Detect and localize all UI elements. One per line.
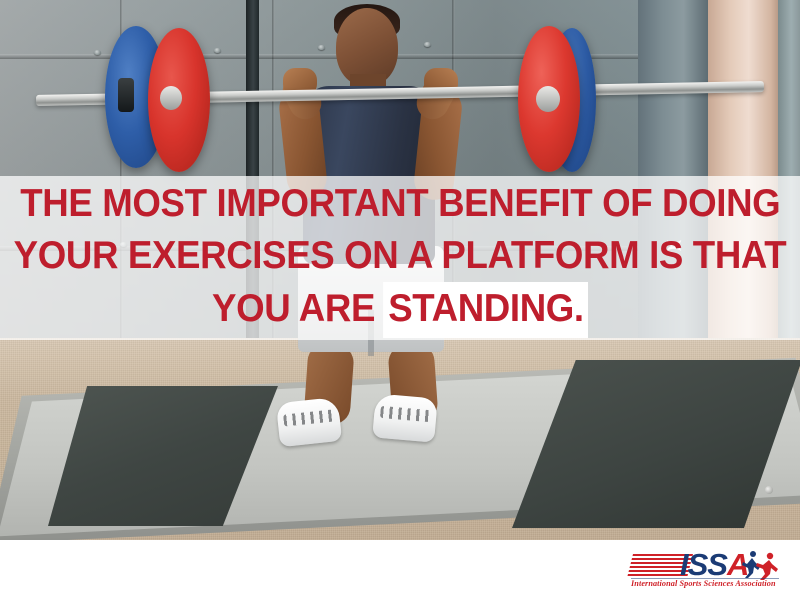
quote-line-2: YOUR EXERCISES ON A PLATFORM IS THAT (14, 230, 787, 282)
quote-overlay-band: THE MOST IMPORTANT BENEFIT OF DOING YOUR… (0, 176, 800, 340)
barbell-sleeve-right (536, 86, 560, 112)
quote-highlight-standing: STANDING. (383, 282, 588, 338)
background-photo: THE MOST IMPORTANT BENEFIT OF DOING YOUR… (0, 0, 800, 540)
barbell-collar-left (118, 78, 134, 112)
logo-acronym: ISSA (680, 548, 748, 582)
issa-logo[interactable]: ISSA International Sports Sciences Assoc… (628, 546, 788, 594)
quote-line-3-plain: YOU ARE (212, 283, 375, 335)
logo-acronym-blue: ISS (680, 547, 727, 582)
athlete-shoe-left (276, 397, 342, 447)
athlete-shoe-right (372, 393, 438, 442)
quote-line-1: THE MOST IMPORTANT BENEFIT OF DOING (20, 178, 780, 230)
quote-line-3: YOU ARESTANDING. (212, 282, 588, 338)
runner-red-icon (754, 552, 780, 580)
footer-bar: ISSA International Sports Sciences Assoc… (0, 540, 800, 600)
barbell-sleeve-left (160, 86, 182, 110)
logo-tagline: International Sports Sciences Associatio… (631, 579, 776, 588)
promotional-poster: THE MOST IMPORTANT BENEFIT OF DOING YOUR… (0, 0, 800, 600)
